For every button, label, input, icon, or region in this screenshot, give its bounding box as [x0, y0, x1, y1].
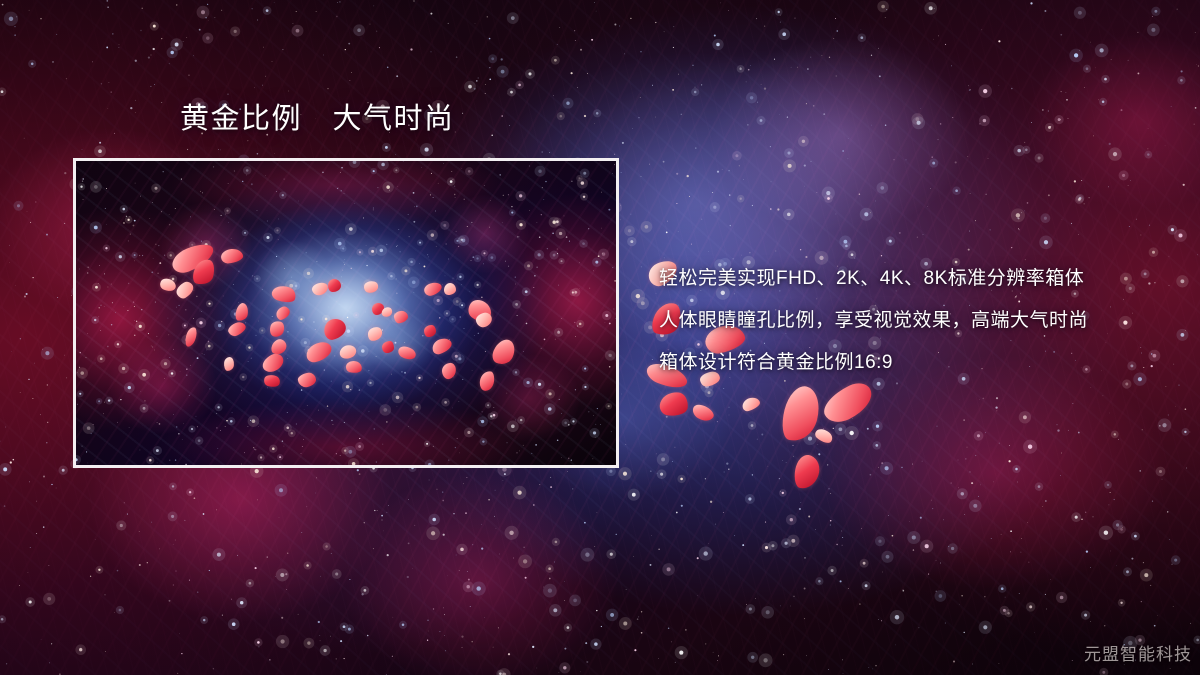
petal: [813, 426, 835, 447]
body-line-3: 箱体设计符合黄金比例16:9: [659, 342, 1169, 384]
petal: [792, 453, 822, 491]
petal: [741, 396, 762, 413]
petal: [818, 378, 878, 428]
petal: [690, 401, 716, 424]
picture-image: [76, 161, 616, 465]
picture-frame: [73, 158, 619, 468]
petal: [659, 391, 689, 418]
picture-nebula-wisps: [76, 161, 616, 465]
slide-canvas: 黄金比例 大气时尚 轻松完美实现FHD、2K、4K、8K标准分辨率箱体 人体眼睛…: [0, 0, 1200, 675]
petal: [778, 383, 825, 446]
page-title: 黄金比例 大气时尚: [180, 102, 455, 136]
watermark: 元盟智能科技: [1084, 640, 1192, 665]
body-copy: 轻松完美实现FHD、2K、4K、8K标准分辨率箱体 人体眼睛瞳孔比例，享受视觉效…: [659, 258, 1169, 384]
body-line-2: 人体眼睛瞳孔比例，享受视觉效果，高端大气时尚: [659, 300, 1169, 342]
body-line-1: 轻松完美实现FHD、2K、4K、8K标准分辨率箱体: [659, 258, 1169, 300]
